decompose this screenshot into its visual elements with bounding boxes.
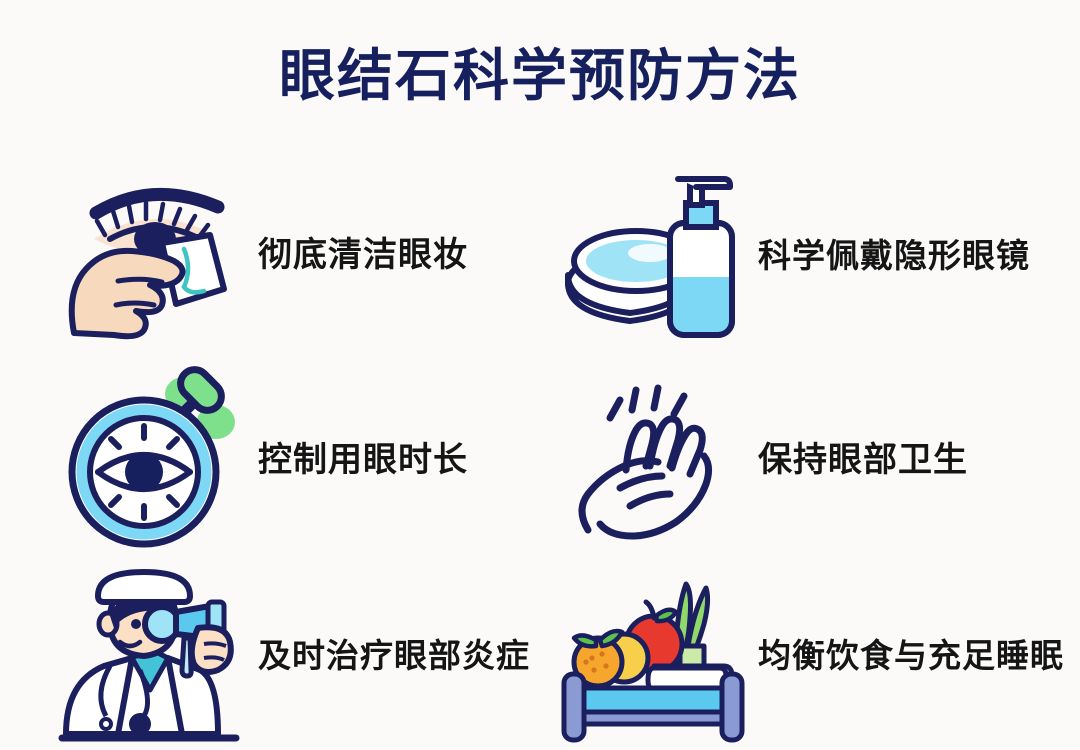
eye-makeup-removal-icon xyxy=(58,165,248,345)
prevention-item-1-label: 彻底清洁眼妆 xyxy=(258,238,468,272)
washing-hands-icon xyxy=(558,370,748,550)
doctor-examination-icon xyxy=(58,566,248,746)
prevention-item-3[interactable]: 控制用眼时长 xyxy=(58,360,558,560)
prevention-item-6-label: 均衡饮食与充足睡眠 xyxy=(758,639,1064,672)
prevention-item-2-label: 科学佩戴隐形眼镜 xyxy=(758,239,1030,272)
prevention-item-5[interactable]: 及时治疗眼部炎症 xyxy=(58,563,558,748)
prevention-methods-grid: 彻底清洁眼妆 科学佩戴隐形眼镜 xyxy=(0,155,1080,750)
prevention-item-1[interactable]: 彻底清洁眼妆 xyxy=(58,155,558,355)
page-title: 眼结石科学预防方法 xyxy=(0,48,1080,104)
bed-with-produce-icon xyxy=(558,566,748,746)
prevention-item-2[interactable]: 科学佩戴隐形眼镜 xyxy=(558,155,1080,355)
contact-lens-care-icon xyxy=(558,165,748,345)
prevention-item-4-label: 保持眼部卫生 xyxy=(758,443,968,477)
bed-with-produce-cell[interactable]: 均衡饮食与充足睡眠 xyxy=(558,563,1080,748)
prevention-item-3-label: 控制用眼时长 xyxy=(258,443,468,477)
stopwatch-eye-icon xyxy=(58,370,248,550)
prevention-item-4[interactable]: 保持眼部卫生 xyxy=(558,360,1080,560)
prevention-item-5-label: 及时治疗眼部炎症 xyxy=(258,639,530,672)
